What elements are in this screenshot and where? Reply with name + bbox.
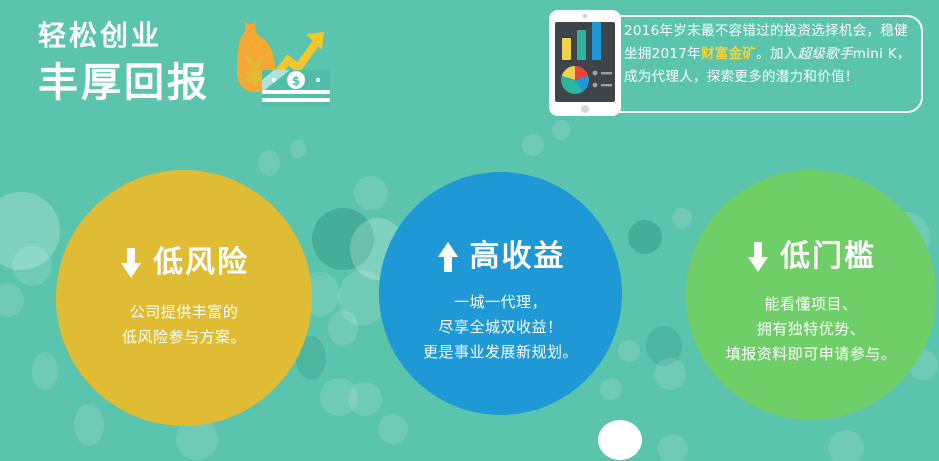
bubble-decor <box>74 404 104 446</box>
bubble-decor <box>348 382 382 416</box>
feature-title-row: 低风险 <box>56 248 312 278</box>
bubble-decor <box>0 283 24 317</box>
feature-desc-line: 公司提供丰富的 <box>74 300 294 325</box>
bar-chart-bar <box>562 38 571 60</box>
arrow-up-icon <box>436 242 460 272</box>
bar-chart-bar <box>577 30 586 60</box>
feature-desc-line: 尽享全城双收益！ <box>397 315 604 340</box>
feature-desc-line: 一城一代理， <box>397 290 604 315</box>
bubble-decor <box>628 220 662 254</box>
bubble-decor <box>522 134 544 156</box>
bubble-decor <box>328 310 358 346</box>
bubble-decor <box>12 246 52 286</box>
bubble-decor <box>672 208 692 228</box>
feature-desc-line: 能看懂项目、 <box>698 292 924 317</box>
arrow-down-icon <box>119 248 143 278</box>
bubble-decor <box>828 430 864 461</box>
feature-desc-line: 填报资料即可申请参与。 <box>698 342 924 367</box>
promo-segment-fancy: 超级歌手 <box>798 46 853 62</box>
tablet-camera-dot <box>583 14 587 18</box>
feature-desc-line: 更是事业发展新规划。 <box>397 340 604 365</box>
bubble-decor <box>658 434 688 461</box>
feature-circle-low-threshold[interactable]: 低门槛 能看懂项目、 拥有独特优势、 填报资料即可申请参与。 <box>686 170 936 420</box>
headline-line-2: 丰厚回报 <box>38 63 210 103</box>
feature-desc-line: 拥有独特优势、 <box>698 317 924 342</box>
feature-title: 低门槛 <box>780 242 876 272</box>
bubble-decor <box>258 150 280 176</box>
feature-title-row: 高收益 <box>379 242 622 272</box>
page-title: 轻松创业 丰厚回报 <box>38 22 210 103</box>
bubble-decor <box>600 378 622 400</box>
feature-circle-low-risk[interactable]: 低风险 公司提供丰富的 低风险参与方案。 <box>56 170 312 426</box>
bubble-decor <box>290 140 306 158</box>
svg-text:$: $ <box>292 74 300 88</box>
headline-line-1: 轻松创业 <box>38 22 210 50</box>
feature-title: 高收益 <box>470 242 566 272</box>
arrow-down-icon <box>746 242 770 272</box>
feature-title: 低风险 <box>153 248 249 278</box>
bubble-decor <box>654 358 686 390</box>
feature-title-row: 低门槛 <box>686 242 936 272</box>
header: 轻松创业 丰厚回报 <box>0 0 560 135</box>
feature-desc-line: 低风险参与方案。 <box>74 325 294 350</box>
promo-callout: 2016年岁末最不容错过的投资选择机会，稳健坐拥2017年财富金矿。加入超级歌手… <box>549 6 931 121</box>
bubble-decor <box>354 176 388 210</box>
bubble-decor <box>378 414 408 444</box>
promo-text: 2016年岁末最不容错过的投资选择机会，稳健坐拥2017年财富金矿。加入超级歌手… <box>624 20 916 89</box>
money-bag-growth-chart-icon: $ <box>212 16 332 116</box>
promo-segment: 。加入 <box>756 46 797 62</box>
feature-circle-high-return[interactable]: 高收益 一城一代理， 尽享全城双收益！ 更是事业发展新规划。 <box>379 172 622 415</box>
tablet-home-button <box>581 105 589 113</box>
bubble-decor-white <box>598 420 642 460</box>
tablet-screen <box>555 22 615 102</box>
bubble-decor <box>32 352 58 390</box>
promo-banner: 轻松创业 丰厚回报 <box>0 0 939 461</box>
feature-description: 公司提供丰富的 低风险参与方案。 <box>56 300 312 350</box>
promo-highlight: 财富金矿 <box>701 46 756 62</box>
tablet-analytics-icon <box>549 10 621 116</box>
feature-description: 能看懂项目、 拥有独特优势、 填报资料即可申请参与。 <box>686 292 936 367</box>
feature-description: 一城一代理， 尽享全城双收益！ 更是事业发展新规划。 <box>379 290 622 365</box>
bar-chart-bar <box>592 22 601 60</box>
